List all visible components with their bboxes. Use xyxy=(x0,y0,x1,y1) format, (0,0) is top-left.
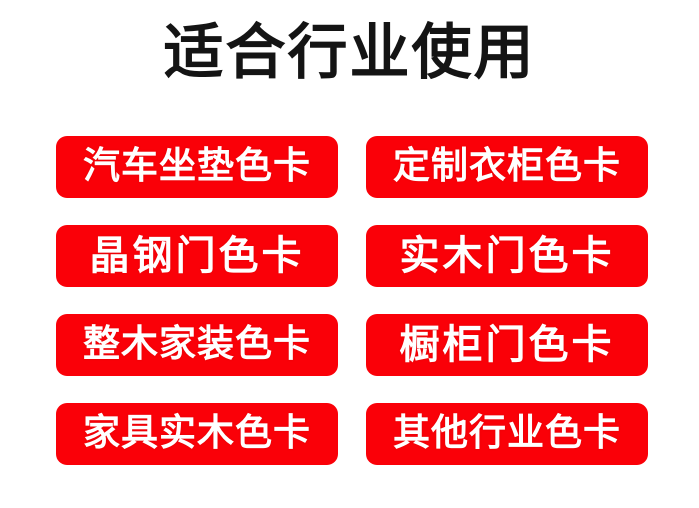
industry-button-label: 晶钢门色卡 xyxy=(90,236,305,276)
industry-button-furniture-solid-wood[interactable]: 家具实木色卡 xyxy=(56,403,338,465)
industry-button-cabinet-door[interactable]: 橱柜门色卡 xyxy=(366,314,648,376)
industry-button-label: 实木门色卡 xyxy=(400,236,615,276)
industry-button-other-industries[interactable]: 其他行业色卡 xyxy=(366,403,648,465)
page-title: 适合行业使用 xyxy=(0,18,699,88)
industry-button-car-seat-cushion[interactable]: 汽车坐垫色卡 xyxy=(56,136,338,198)
industry-button-label: 汽车坐垫色卡 xyxy=(83,147,311,187)
industry-button-label: 定制衣柜色卡 xyxy=(393,147,621,187)
industry-button-custom-wardrobe[interactable]: 定制衣柜色卡 xyxy=(366,136,648,198)
industry-button-crystal-steel-door[interactable]: 晶钢门色卡 xyxy=(56,225,338,287)
industry-button-whole-wood-decoration[interactable]: 整木家装色卡 xyxy=(56,314,338,376)
industry-selection-page: 适合行业使用 汽车坐垫色卡 定制衣柜色卡 晶钢门色卡 实木门色卡 整木家装色卡 … xyxy=(0,0,699,508)
industry-button-label: 整木家装色卡 xyxy=(83,325,311,365)
industry-button-solid-wood-door[interactable]: 实木门色卡 xyxy=(366,225,648,287)
industry-button-grid: 汽车坐垫色卡 定制衣柜色卡 晶钢门色卡 实木门色卡 整木家装色卡 橱柜门色卡 家… xyxy=(56,136,648,466)
industry-button-label: 其他行业色卡 xyxy=(393,414,621,454)
industry-button-label: 橱柜门色卡 xyxy=(400,325,615,365)
industry-button-label: 家具实木色卡 xyxy=(83,414,311,454)
